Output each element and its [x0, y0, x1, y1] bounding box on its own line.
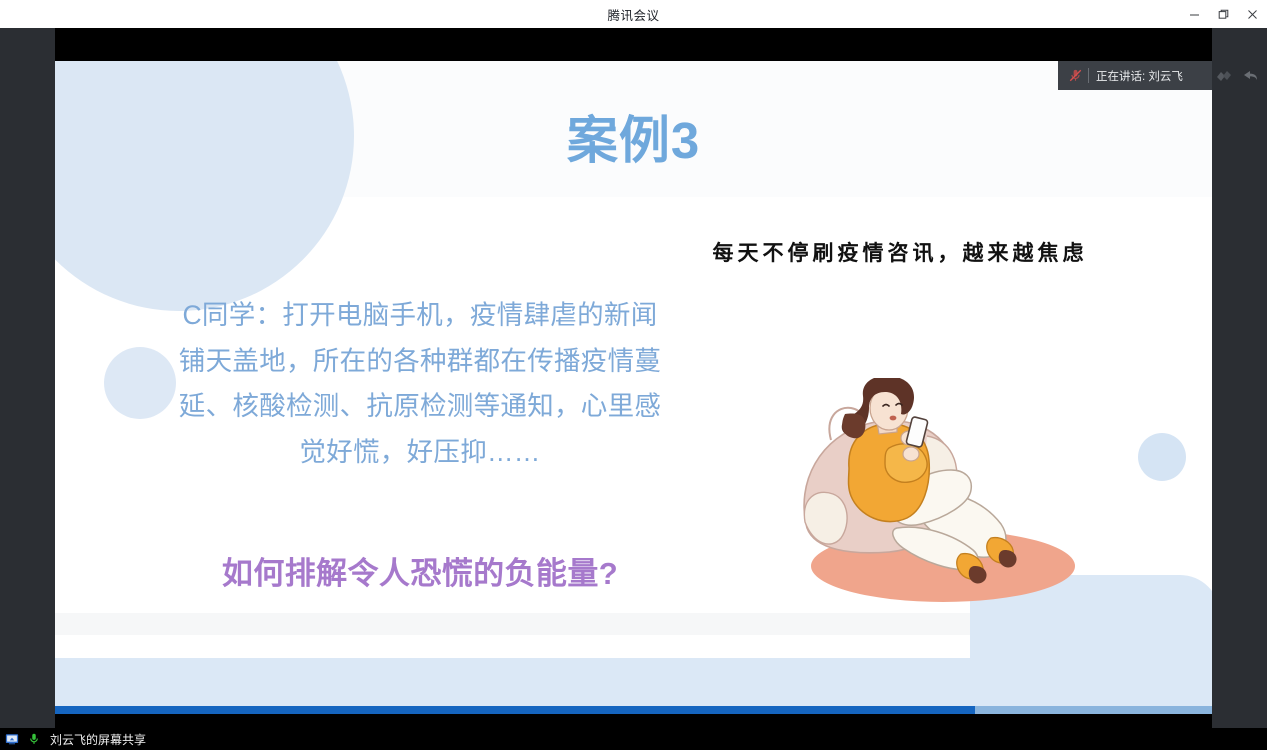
viewport-toolbar	[1214, 61, 1267, 90]
close-button[interactable]	[1238, 0, 1267, 28]
window-title-bar: 腾讯会议	[0, 0, 1267, 28]
badge-divider	[1088, 68, 1089, 83]
slide-paragraph: C同学：打开电脑手机，疫情肆虐的新闻铺天盖地，所在的各种群都在传播疫情蔓延、核酸…	[171, 293, 669, 475]
maximize-icon	[1218, 9, 1229, 20]
maximize-button[interactable]	[1209, 0, 1238, 28]
slide-title: 案例3	[55, 115, 1212, 166]
speaking-indicator-badge: 正在讲话: 刘云飞	[1058, 61, 1212, 90]
woman-on-beanbag-with-phone-illustration	[785, 378, 1085, 608]
taskbar: 刘云飞的屏幕共享	[0, 728, 1267, 750]
expand-view-icon[interactable]	[1214, 65, 1236, 87]
microphone-muted-icon	[1064, 65, 1086, 87]
microphone-icon[interactable]	[26, 731, 42, 747]
slide-progress-bar[interactable]	[55, 706, 1212, 714]
slide-caption: 每天不停刷疫情咨讯，越来越焦虑	[685, 233, 1115, 273]
letterbox-top	[55, 28, 1212, 61]
decorative-small-circle-icon	[104, 347, 176, 419]
slide-progress-fill	[55, 706, 975, 714]
meeting-viewport: 案例3 C同学：打开电脑手机，疫情肆虐的新闻铺天盖地，所在的各种群都在传播疫情蔓…	[0, 28, 1267, 728]
speaking-label: 正在讲话: 刘云飞	[1096, 68, 1183, 84]
window-controls	[1180, 0, 1267, 28]
letterbox-bottom	[55, 714, 1212, 728]
window-title: 腾讯会议	[607, 5, 659, 24]
decorative-right-circle-icon	[1138, 433, 1186, 481]
minimize-button[interactable]	[1180, 0, 1209, 28]
minimize-icon	[1189, 9, 1200, 20]
screen-share-icon[interactable]	[4, 731, 20, 747]
back-arrow-icon[interactable]	[1239, 65, 1261, 87]
shared-slide: 案例3 C同学：打开电脑手机，疫情肆虐的新闻铺天盖地，所在的各种群都在传播疫情蔓…	[55, 61, 1212, 714]
close-icon	[1247, 9, 1258, 20]
slide-question: 如何排解令人恐慌的负能量?	[165, 548, 675, 593]
taskbar-label: 刘云飞的屏幕共享	[50, 731, 146, 748]
